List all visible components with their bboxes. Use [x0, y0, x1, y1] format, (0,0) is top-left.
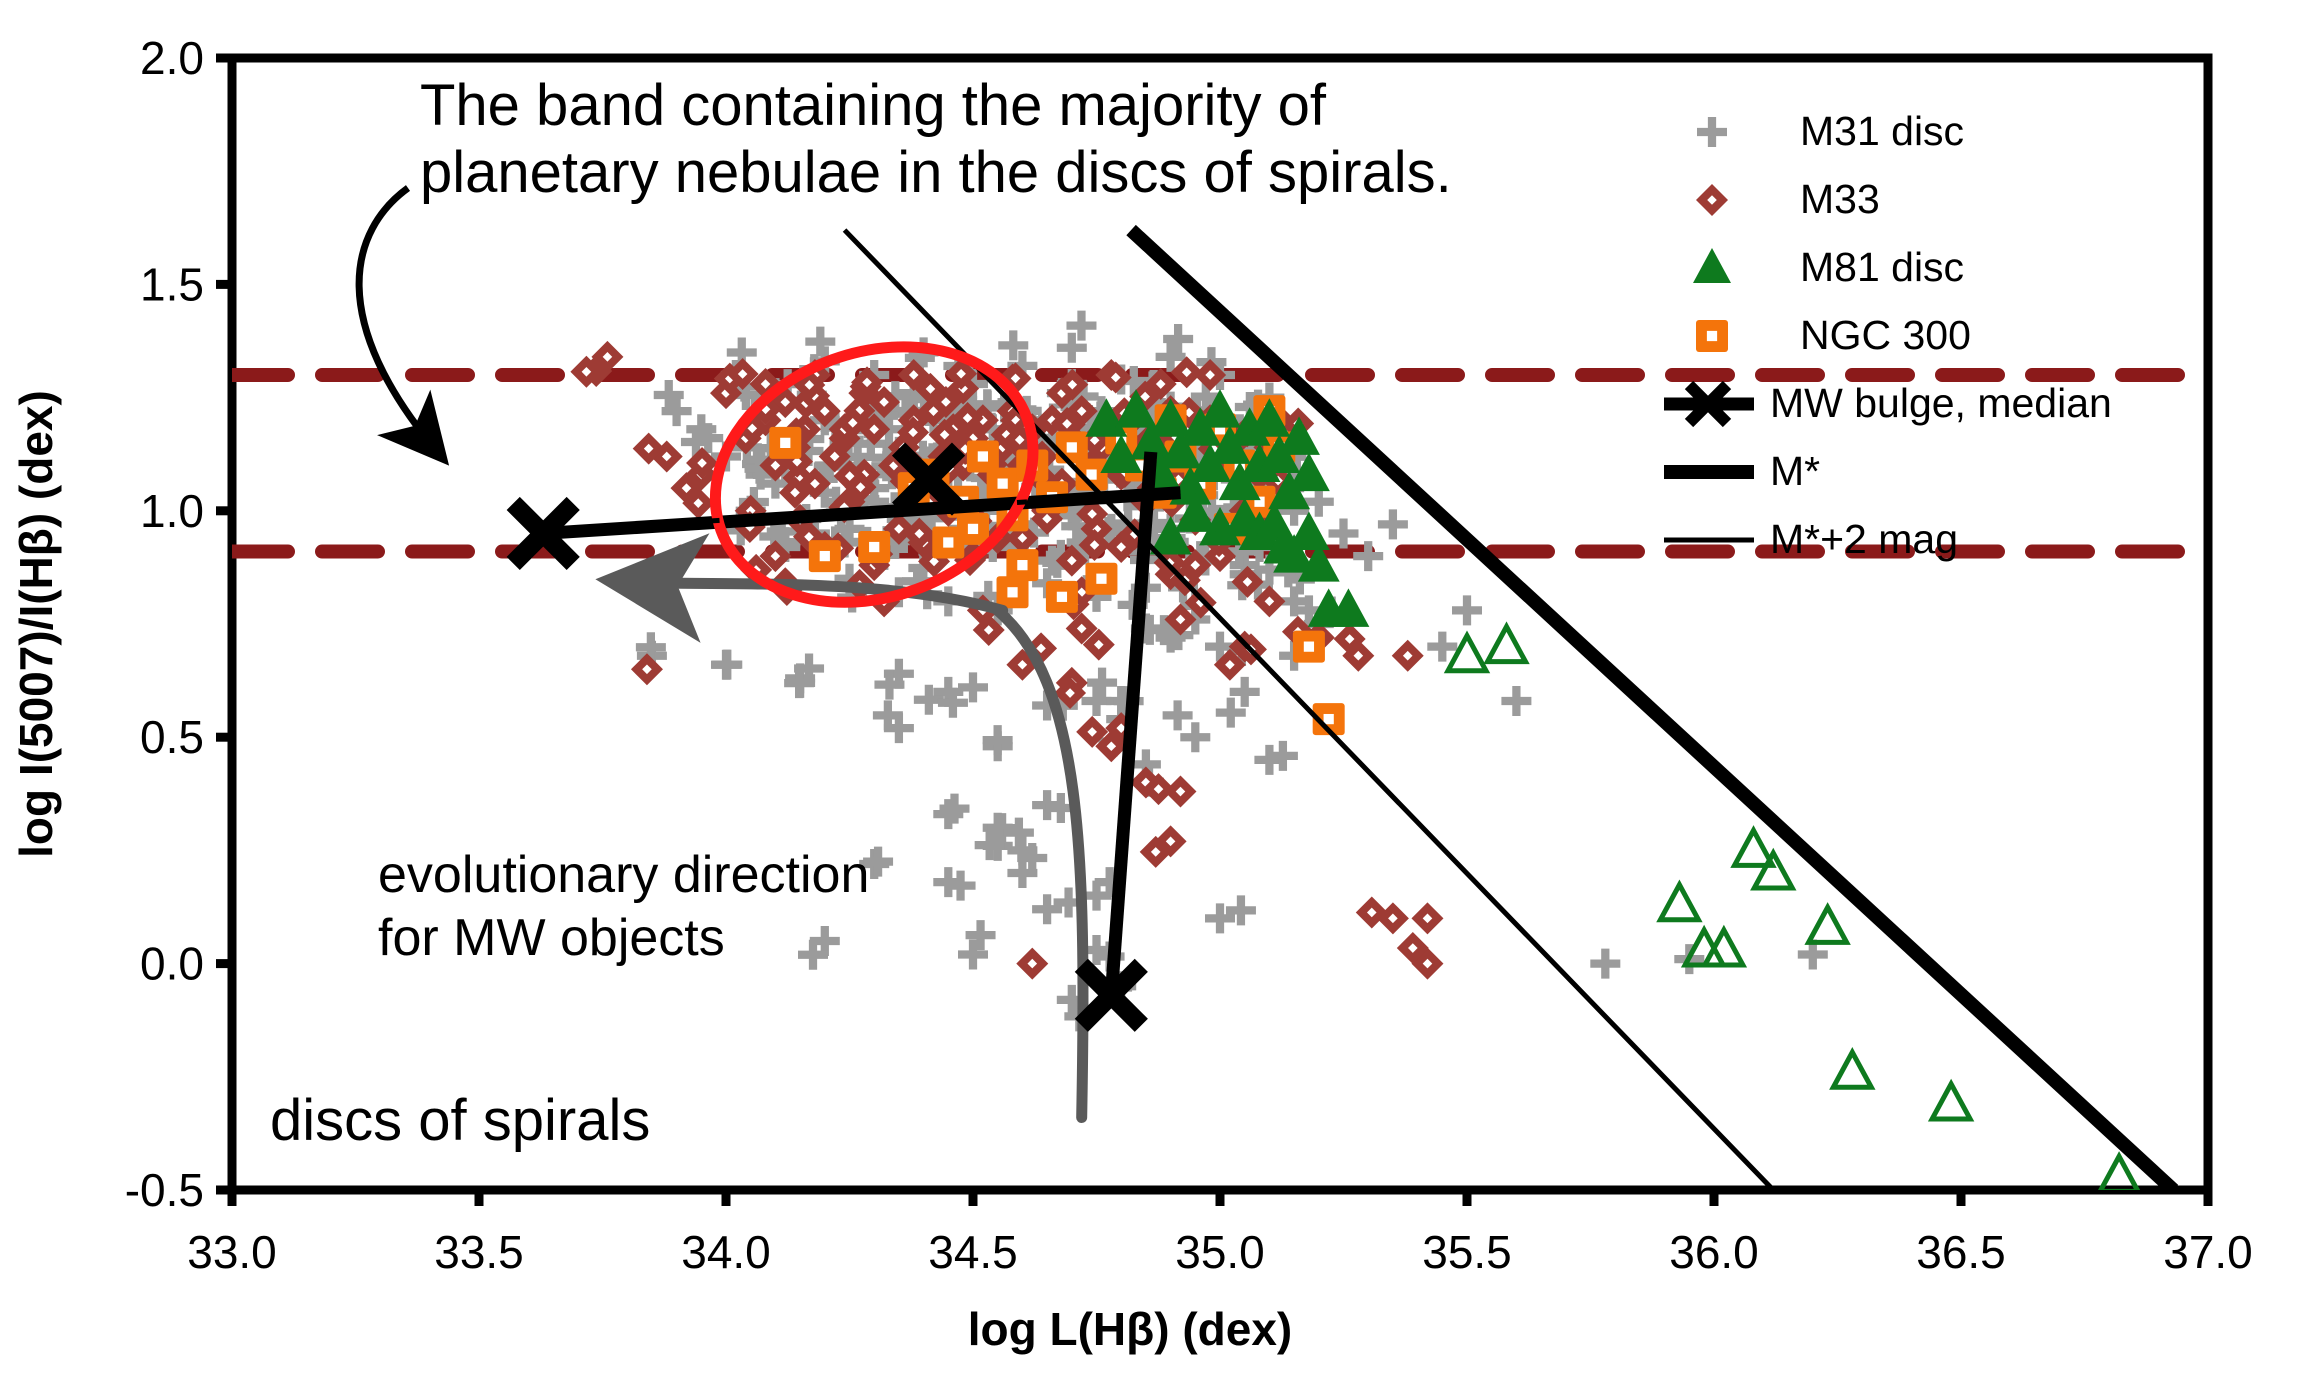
x-tick-label: 36.5 — [1916, 1226, 2006, 1278]
band-note-line2: planetary nebulae in the discs of spiral… — [420, 140, 1452, 205]
square-marker-inner — [1007, 587, 1017, 597]
evolution-note-line2: for MW objects — [378, 909, 725, 967]
x-tick-label: 34.0 — [681, 1226, 771, 1278]
square-marker-inner — [1304, 642, 1314, 652]
canvas-background — [0, 0, 2304, 1382]
y-tick-label: 1.0 — [140, 485, 204, 537]
x-tick-label: 36.0 — [1669, 1226, 1759, 1278]
legend-item-label-4: MW bulge, median — [1770, 380, 2112, 426]
x-tick-label: 37.0 — [2163, 1226, 2253, 1278]
square-marker-inner — [1067, 442, 1077, 452]
square-marker-inner — [1096, 574, 1106, 584]
y-axis-title: log I(5007)/I(Hβ) (dex) — [10, 390, 62, 858]
panel-label: discs of spirals — [270, 1088, 650, 1153]
legend-item-label-6: M*+2 mag — [1770, 516, 1958, 562]
square-marker-inner — [1057, 592, 1067, 602]
square-marker-inner — [780, 438, 790, 448]
y-tick-label: 2.0 — [140, 32, 204, 84]
chart-root: 33.033.534.034.535.035.536.036.537.0 2.0… — [0, 0, 2304, 1382]
x-tick-label: 33.5 — [434, 1226, 524, 1278]
pn-luminosity-excitation-scatter-chart: 33.033.534.034.535.035.536.036.537.0 2.0… — [0, 0, 2304, 1382]
legend-item-label-2: M81 disc — [1800, 244, 1964, 290]
square-marker-inner — [1017, 560, 1027, 570]
x-axis-tick-labels: 33.033.534.034.535.035.536.036.537.0 — [187, 1226, 2253, 1278]
x-tick-label: 35.0 — [1175, 1226, 1265, 1278]
y-tick-label: 1.5 — [140, 258, 204, 310]
square-marker-inner — [1324, 714, 1334, 724]
legend-item-label-1: M33 — [1800, 176, 1880, 222]
evolution-note-line1: evolutionary direction — [378, 846, 869, 904]
square-marker-inner — [820, 551, 830, 561]
square-marker-inner — [998, 479, 1008, 489]
legend-item-label-0: M31 disc — [1800, 108, 1964, 154]
legend-item-label-3: NGC 300 — [1800, 312, 1971, 358]
x-tick-label: 34.5 — [928, 1226, 1018, 1278]
x-tick-label: 35.5 — [1422, 1226, 1512, 1278]
square-marker-inner — [869, 542, 879, 552]
y-tick-label: -0.5 — [125, 1164, 204, 1216]
square-marker-inner — [943, 537, 953, 547]
square-marker-inner — [1707, 331, 1717, 341]
legend-item-label-5: M* — [1770, 448, 1820, 494]
x-tick-label: 33.0 — [187, 1226, 277, 1278]
x-axis-title: log L(Hβ) (dex) — [968, 1303, 1292, 1355]
y-tick-label: 0.0 — [140, 938, 204, 990]
band-note-line1: The band containing the majority of — [420, 73, 1327, 138]
square-marker-inner — [968, 524, 978, 534]
square-marker-inner — [978, 451, 988, 461]
y-tick-label: 0.5 — [140, 711, 204, 763]
